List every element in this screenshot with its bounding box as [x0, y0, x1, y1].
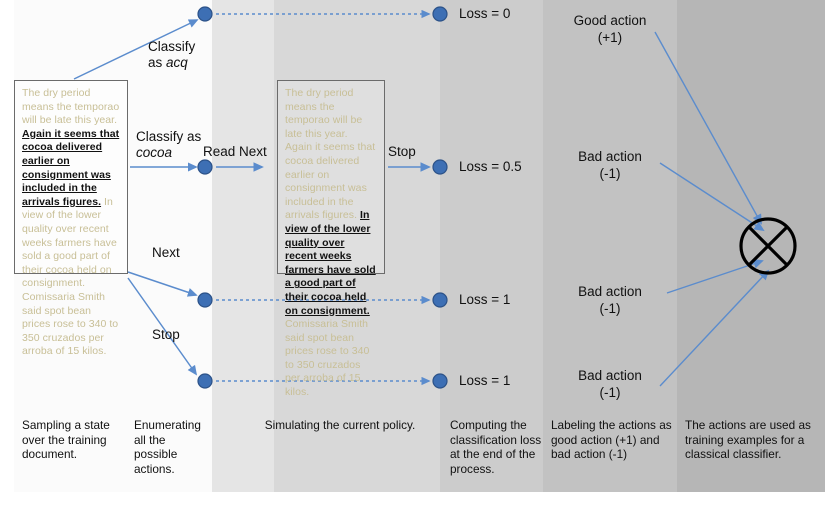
caption-enumerating: Enumerating all the possible actions.: [134, 418, 204, 476]
classify-acq-line1: Classify: [148, 39, 195, 55]
diagram-canvas: The dry period means the temporao will b…: [0, 0, 839, 507]
caption-classifier: The actions are used as training example…: [685, 418, 813, 462]
action-label-3-line1: Bad action: [543, 367, 677, 384]
caption-loss: Computing the classification loss at the…: [450, 418, 542, 476]
loss-label-3: Loss = 1: [459, 373, 510, 388]
classify-acq-italic: acq: [166, 55, 188, 70]
edge-label-classify-acq: Classify as acq: [148, 39, 195, 71]
classify-cocoa-line1: Classify as: [136, 129, 201, 145]
caption-simulating: Simulating the current policy.: [245, 418, 435, 433]
action-label-1-line1: Bad action: [543, 148, 677, 165]
document-state-box-1: The dry period means the temporao will b…: [14, 80, 128, 274]
edge-label-stop-mid: Stop: [388, 144, 416, 159]
loss-label-1: Loss = 0.5: [459, 159, 522, 174]
action-label-0-line1: Good action: [543, 12, 677, 29]
doc2-highlight: In view of the lower quality over recent…: [285, 209, 376, 316]
caption-sampling: Sampling a state over the training docum…: [22, 418, 130, 462]
classify-cocoa-italic: cocoa: [136, 145, 201, 161]
action-label-3-line2: (-1): [543, 384, 677, 401]
action-label-3: Bad action (-1): [543, 367, 677, 401]
edge-label-stop: Stop: [152, 327, 180, 342]
doc1-faded-before: The dry period means the temporao will b…: [22, 87, 119, 126]
caption-labeling: Labeling the actions as good action (+1)…: [551, 418, 673, 462]
doc1-faded-after: In view of the lower quality over recent…: [22, 196, 118, 358]
action-label-2-line1: Bad action: [543, 283, 677, 300]
edge-label-classify-cocoa: Classify as cocoa: [136, 129, 201, 161]
doc2-faded-before: The dry period means the temporao will b…: [285, 87, 375, 221]
classify-acq-as: as: [148, 55, 166, 70]
action-label-0: Good action (+1): [543, 12, 677, 46]
action-label-1-line2: (-1): [543, 165, 677, 182]
loss-label-0: Loss = 0: [459, 6, 510, 21]
loss-label-2: Loss = 1: [459, 292, 510, 307]
document-state-box-2: The dry period means the temporao will b…: [277, 80, 385, 274]
action-label-2-line2: (-1): [543, 300, 677, 317]
classify-acq-line2: as acq: [148, 55, 195, 71]
edge-label-next: Next: [152, 245, 180, 260]
action-label-1: Bad action (-1): [543, 148, 677, 182]
action-label-2: Bad action (-1): [543, 283, 677, 317]
action-label-0-line2: (+1): [543, 29, 677, 46]
edge-label-read-next: Read Next: [203, 144, 267, 159]
